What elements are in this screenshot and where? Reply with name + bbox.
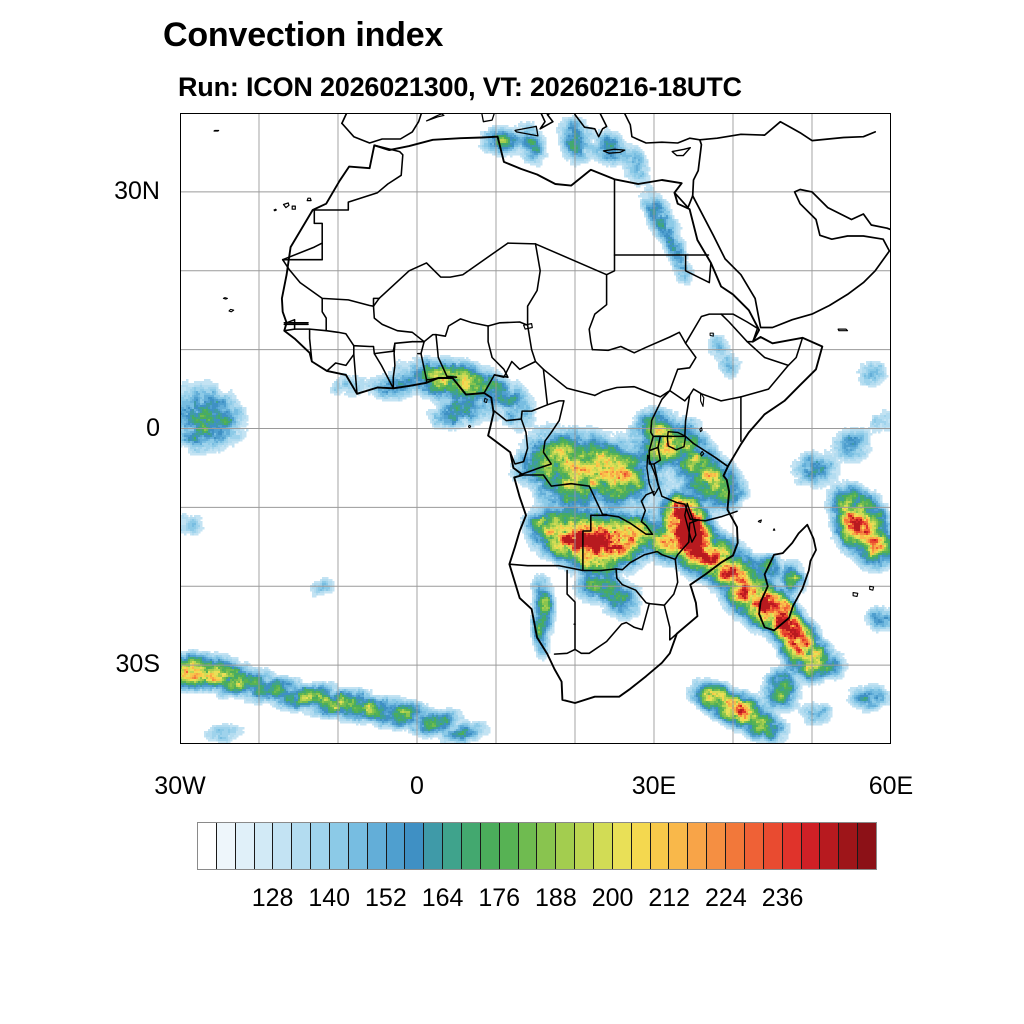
colorbar-segment (651, 823, 670, 869)
colorbar-segment (594, 823, 613, 869)
colorbar-segment (462, 823, 481, 869)
longitude-tick-label: 0 (357, 772, 477, 801)
run-valid-time-subtitle: Run: ICON 2026021300, VT: 20260216-18UTC (178, 72, 742, 103)
colorbar-segment (858, 823, 876, 869)
colorbar-segment (613, 823, 632, 869)
colorbar-segment (311, 823, 330, 869)
colorbar-segment (839, 823, 858, 869)
colorbar-segment (632, 823, 651, 869)
longitude-tick-label: 30W (120, 772, 240, 801)
colorbar-segment (802, 823, 821, 869)
convection-index-map[interactable] (180, 113, 891, 744)
colorbar-tick-label: 236 (743, 884, 823, 913)
colorbar-segment (726, 823, 745, 869)
latitude-tick-label: 30S (35, 650, 160, 679)
page-title: Convection index (163, 16, 443, 55)
colorbar-segment (443, 823, 462, 869)
colorbar-segment (669, 823, 688, 869)
longitude-tick-label: 30E (594, 772, 714, 801)
colorbar-segment (707, 823, 726, 869)
map-plot-area[interactable] (180, 113, 891, 744)
colorbar[interactable] (197, 822, 877, 870)
colorbar-segment (575, 823, 594, 869)
colorbar-segment (292, 823, 311, 869)
colorbar-segment (820, 823, 839, 869)
colorbar-segment (387, 823, 406, 869)
colorbar-segment (368, 823, 387, 869)
colorbar-segment (764, 823, 783, 869)
colorbar-segment (273, 823, 292, 869)
colorbar-segment (556, 823, 575, 869)
colorbar-segment (481, 823, 500, 869)
colorbar-segment (198, 823, 217, 869)
latitude-tick-label: 0 (35, 414, 160, 443)
colorbar-segment (330, 823, 349, 869)
colorbar-segments[interactable] (197, 822, 877, 870)
colorbar-segment (405, 823, 424, 869)
colorbar-segment (217, 823, 236, 869)
colorbar-segment (783, 823, 802, 869)
colorbar-segment (745, 823, 764, 869)
longitude-tick-label: 60E (831, 772, 951, 801)
colorbar-segment (255, 823, 274, 869)
colorbar-segment (424, 823, 443, 869)
latitude-tick-label: 30N (35, 177, 160, 206)
colorbar-segment (519, 823, 538, 869)
colorbar-segment (537, 823, 556, 869)
colorbar-segment (500, 823, 519, 869)
colorbar-segment (236, 823, 255, 869)
colorbar-segment (349, 823, 368, 869)
colorbar-segment (688, 823, 707, 869)
